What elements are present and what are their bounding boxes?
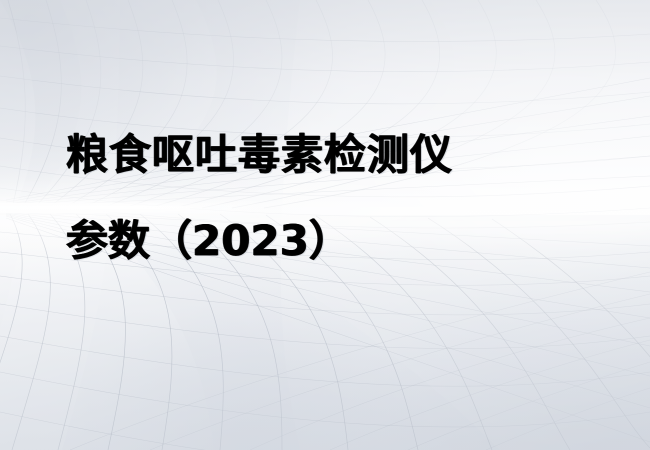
title-line-primary: 粮食呕吐毒素检测仪 [66, 112, 606, 198]
title-line-secondary: 参数（2023） [66, 198, 606, 284]
title-block: 粮食呕吐毒素检测仪 参数（2023） [66, 112, 606, 284]
title-banner: 粮食呕吐毒素检测仪 参数（2023） [0, 0, 650, 450]
